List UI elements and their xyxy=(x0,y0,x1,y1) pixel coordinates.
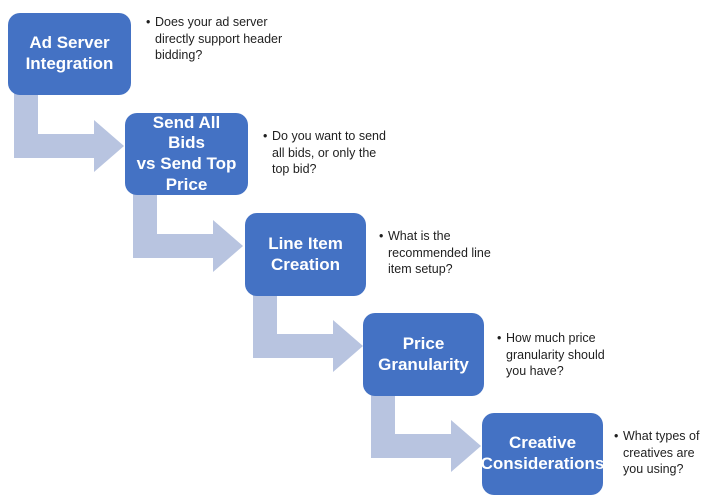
annotation-note-ad-server-integration: •Does your ad server directly support he… xyxy=(146,14,296,64)
elbow-arrow-icon xyxy=(371,392,481,472)
bullet-icon: • xyxy=(497,330,506,347)
annotation-note-price-granularity: •How much price granularity should you h… xyxy=(497,330,617,380)
flow-node-creative-considerations[interactable]: Creative Considerations xyxy=(482,413,603,495)
elbow-arrow-icon xyxy=(253,292,363,372)
annotation-text: Do you want to send all bids, or only th… xyxy=(272,128,393,178)
flow-node-label: Price Granularity xyxy=(378,334,469,375)
flow-node-ad-server-integration[interactable]: Ad Server Integration xyxy=(8,13,131,95)
flow-connector-arrow xyxy=(253,292,363,372)
elbow-arrow-icon xyxy=(133,192,243,272)
flow-connector-arrow xyxy=(371,392,481,472)
flow-node-price-granularity[interactable]: Price Granularity xyxy=(363,313,484,396)
flow-node-label: Send All Bids vs Send Top Price xyxy=(133,113,240,196)
annotation-text: How much price granularity should you ha… xyxy=(506,330,617,380)
annotation-note-send-all-bids: •Do you want to send all bids, or only t… xyxy=(263,128,393,178)
elbow-arrow-icon xyxy=(14,92,124,172)
flow-node-send-all-bids-vs-send-top-price[interactable]: Send All Bids vs Send Top Price xyxy=(125,113,248,195)
flow-node-line-item-creation[interactable]: Line Item Creation xyxy=(245,213,366,296)
flowchart-canvas: Ad Server IntegrationSend All Bids vs Se… xyxy=(0,0,723,500)
annotation-text: Does your ad server directly support hea… xyxy=(155,14,296,64)
annotation-note-line-item-creation: •What is the recommended line item setup… xyxy=(379,228,507,278)
bullet-icon: • xyxy=(379,228,388,245)
annotation-text: What is the recommended line item setup? xyxy=(388,228,507,278)
flow-node-label: Line Item Creation xyxy=(268,234,343,275)
flow-connector-arrow xyxy=(133,192,243,272)
flow-node-label: Ad Server Integration xyxy=(26,33,114,74)
bullet-icon: • xyxy=(146,14,155,31)
flow-node-label: Creative Considerations xyxy=(481,433,605,474)
bullet-icon: • xyxy=(614,428,623,445)
flow-connector-arrow xyxy=(14,92,124,172)
annotation-text: What types of creatives are you using? xyxy=(623,428,718,478)
annotation-note-creative-considerations: •What types of creatives are you using? xyxy=(614,428,718,478)
bullet-icon: • xyxy=(263,128,272,145)
